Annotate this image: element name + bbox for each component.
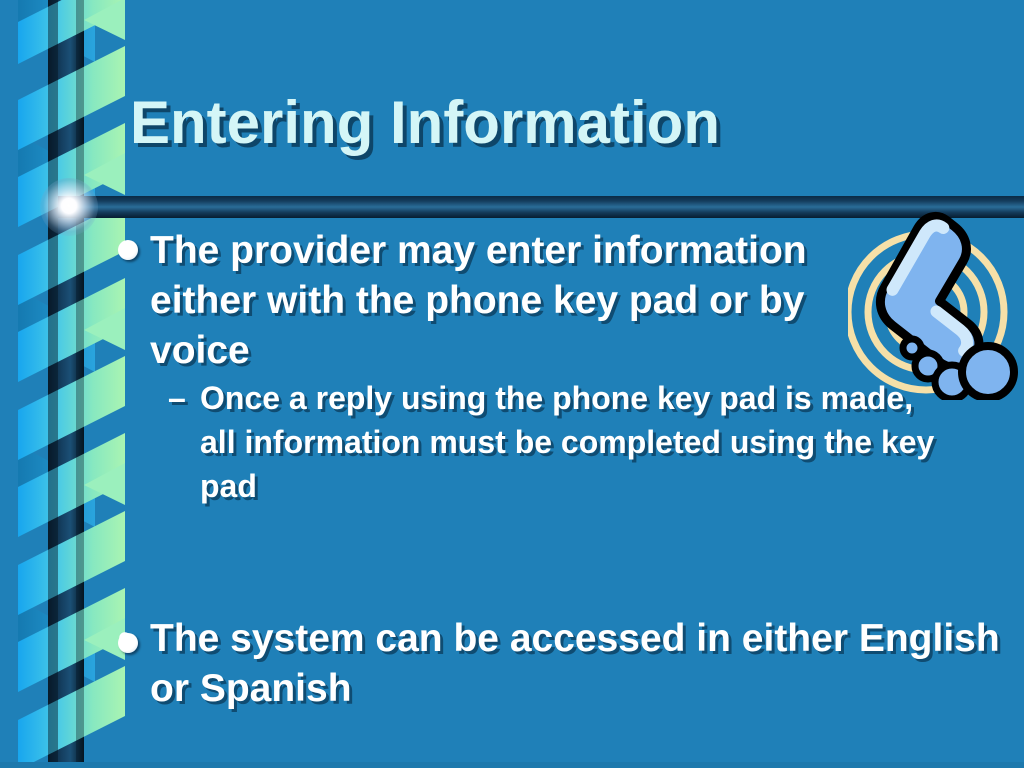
bullet-text: The system can be accessed in either Eng…: [150, 614, 1010, 714]
bottom-edge-strip: [0, 762, 1024, 768]
decorative-dot-upper: [118, 240, 138, 260]
decorative-dot-lower: [118, 633, 138, 653]
title-block: Entering Information: [0, 86, 1024, 196]
bullet-item-level2: – Once a reply using the phone key pad i…: [168, 376, 998, 508]
page-title: Entering Information: [130, 86, 1010, 160]
bullet-item-level1: • The system can be accessed in either E…: [118, 614, 1018, 714]
bullet-text: The provider may enter information eithe…: [150, 226, 850, 376]
body-content-secondary: • The system can be accessed in either E…: [118, 614, 1018, 714]
divider-glow-dot: [40, 178, 98, 236]
bullet-marker-dash: –: [168, 376, 200, 420]
body-content: • The provider may enter information eit…: [118, 226, 998, 508]
bullet-text: Once a reply using the phone key pad is …: [200, 376, 945, 508]
presentation-slide: Entering Information: [0, 0, 1024, 768]
bullet-item-level1: • The provider may enter information eit…: [118, 226, 998, 376]
